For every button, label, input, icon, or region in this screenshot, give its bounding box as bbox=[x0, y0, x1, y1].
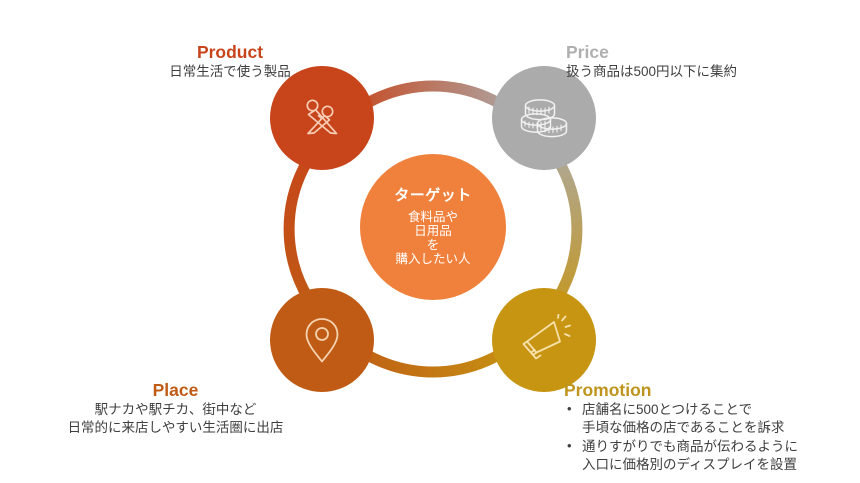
megaphone-icon bbox=[516, 314, 572, 366]
bullet-2-line-1: 通りすがりでも商品が伝わるように bbox=[581, 438, 798, 456]
label-place-heading: Place bbox=[28, 380, 323, 400]
center-line-4: 購入したい人 bbox=[395, 252, 470, 266]
label-price: Price 扱う商品は500円以下に集約 bbox=[566, 42, 737, 81]
node-promotion[interactable] bbox=[492, 288, 596, 392]
coins-icon bbox=[516, 92, 572, 144]
label-product-body: 日常生活で使う製品 bbox=[130, 63, 330, 81]
label-place: Place 駅ナカや駅チカ、街中など 日常的に来店しやすい生活圏に出店 bbox=[28, 380, 323, 438]
center-title: ターゲット bbox=[394, 188, 472, 205]
center-target-circle: ターゲット 食料品や 日用品 を 購入したい人 bbox=[360, 154, 506, 300]
bullet-2-line-2: 入口に価格別のディスプレイを設置 bbox=[581, 456, 798, 474]
node-place[interactable] bbox=[270, 288, 374, 392]
label-product: Product 日常生活で使う製品 bbox=[130, 42, 330, 81]
label-price-body: 扱う商品は500円以下に集約 bbox=[566, 63, 737, 81]
marketing-mix-diagram: ターゲット 食料品や 日用品 を 購入したい人 bbox=[248, 62, 618, 402]
bullet-1-line-2: 手頃な価格の店であることを訴求 bbox=[581, 419, 798, 437]
scissors-icon bbox=[296, 92, 348, 144]
slide-canvas: ターゲット 食料品や 日用品 を 購入したい人 Product 日常生活で使う製… bbox=[0, 0, 860, 483]
map-pin-icon bbox=[297, 313, 347, 367]
label-product-heading: Product bbox=[130, 42, 330, 62]
center-line-2: 日用品 bbox=[414, 224, 452, 238]
center-line-1: 食料品や bbox=[408, 210, 458, 224]
bullet-1-line-1: 店舗名に500とつけることで bbox=[581, 401, 798, 419]
node-price[interactable] bbox=[492, 66, 596, 170]
list-item: 店舗名に500とつけることで 手頃な価格の店であることを訴求 bbox=[564, 401, 798, 437]
label-price-heading: Price bbox=[566, 42, 737, 62]
node-product[interactable] bbox=[270, 66, 374, 170]
center-line-3: を bbox=[427, 238, 440, 252]
label-place-body-line1: 駅ナカや駅チカ、街中など bbox=[28, 401, 323, 419]
promotion-bullet-list: 店舗名に500とつけることで 手頃な価格の店であることを訴求 通りすがりでも商品… bbox=[564, 401, 798, 473]
label-promotion: Promotion 店舗名に500とつけることで 手頃な価格の店であることを訴求… bbox=[564, 380, 798, 474]
label-place-body-line2: 日常的に来店しやすい生活圏に出店 bbox=[28, 419, 323, 437]
label-promotion-heading: Promotion bbox=[564, 380, 798, 400]
list-item: 通りすがりでも商品が伝わるように 入口に価格別のディスプレイを設置 bbox=[564, 438, 798, 474]
